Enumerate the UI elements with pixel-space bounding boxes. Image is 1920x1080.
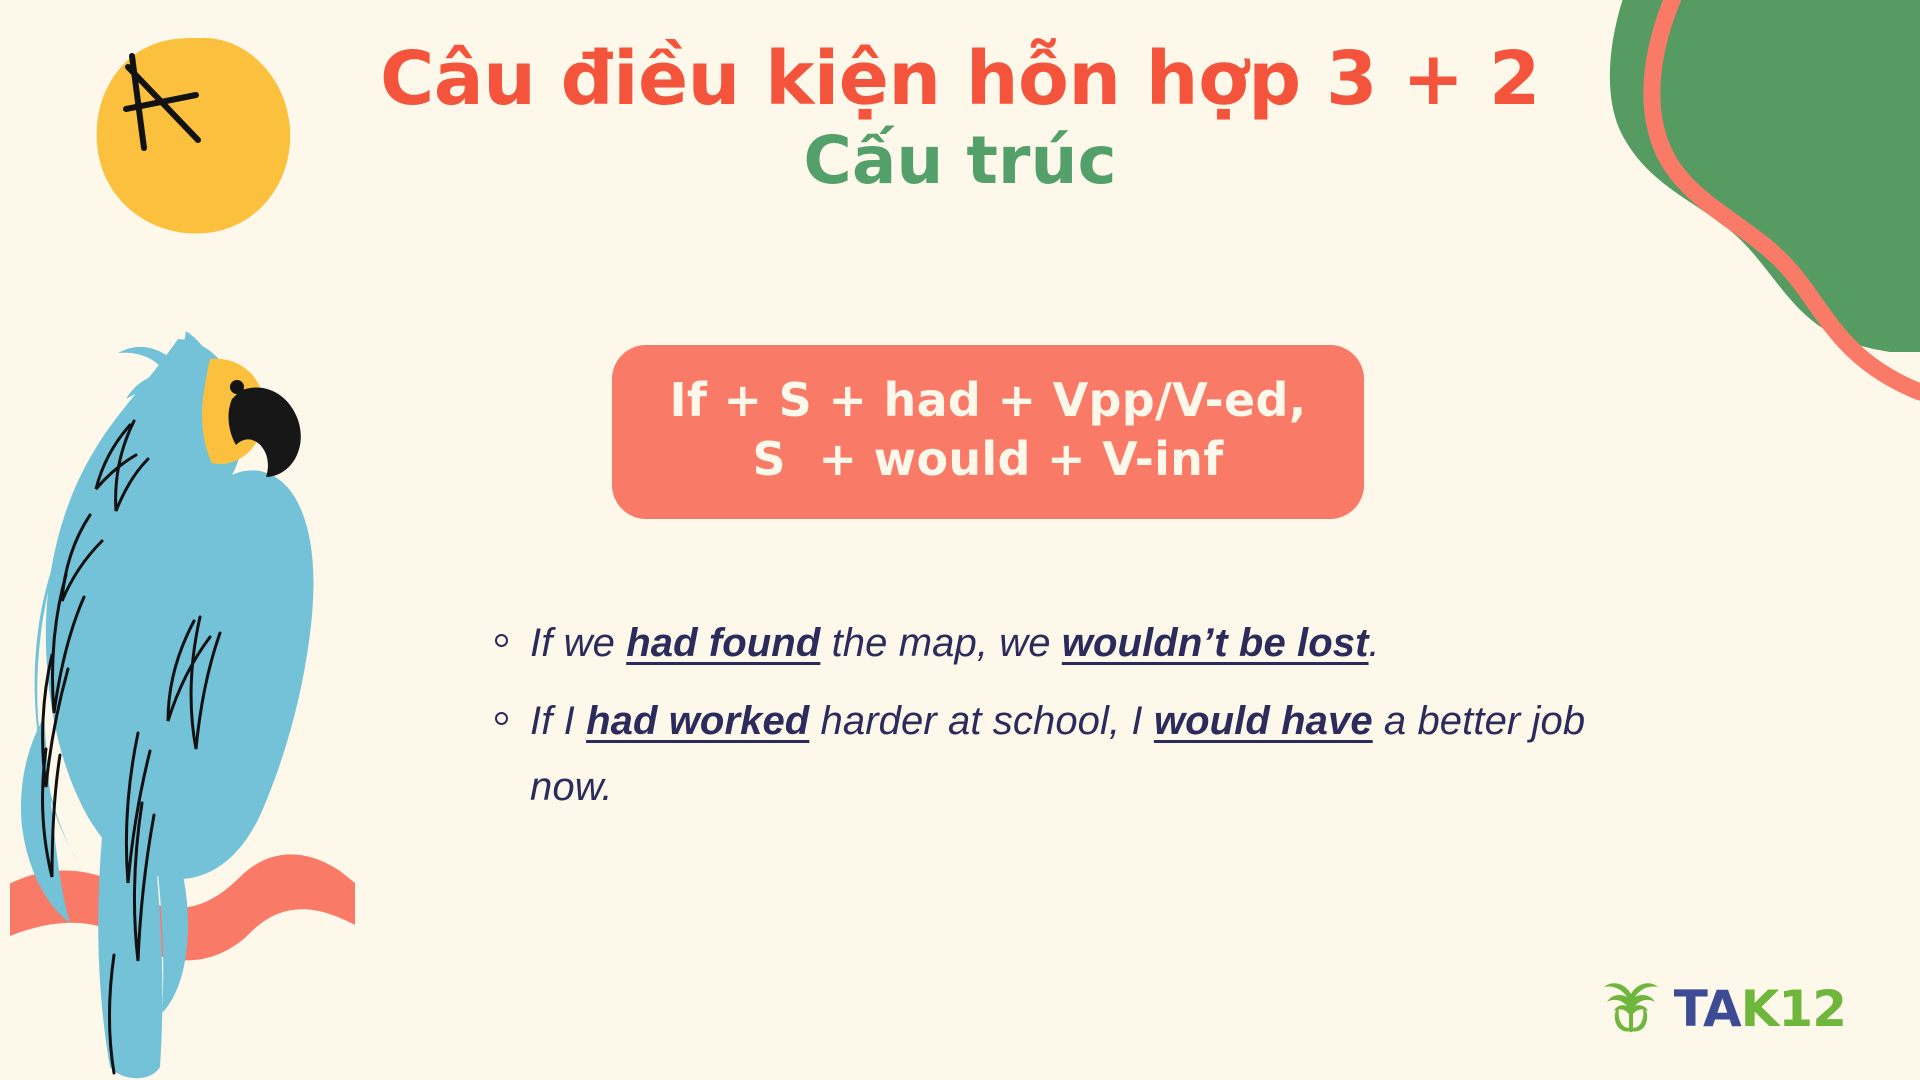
sentence-fragment: harder at school, I: [809, 699, 1154, 743]
page-subtitle: Cấu trúc: [0, 120, 1920, 203]
bullet-circle-icon: [495, 712, 508, 725]
formula-line-2: S + would + V-inf: [648, 430, 1328, 489]
sentence-fragment: If I: [530, 699, 586, 743]
sentence-fragment: .: [1369, 621, 1380, 665]
list-item: If I had worked harder at school, I woul…: [495, 688, 1675, 820]
parrot-icon: [10, 325, 360, 1080]
emphasized-phrase: had found: [626, 621, 820, 665]
list-item: If we had found the map, we wouldn’t be …: [495, 610, 1675, 676]
logo-text-secondary: K12: [1741, 980, 1846, 1038]
examples-list: If we had found the map, we wouldn’t be …: [495, 610, 1675, 832]
blue-macaw-illustration: [10, 325, 360, 1080]
example-sentence: If I had worked harder at school, I woul…: [530, 688, 1675, 820]
title-block: Câu điều kiện hỗn hợp 3 + 2 Cấu trúc: [0, 40, 1920, 202]
beak: [229, 387, 301, 477]
formula-line-1: If + S + had + Vpp/V-ed,: [648, 371, 1328, 430]
example-sentence: If we had found the map, we wouldn’t be …: [530, 610, 1380, 676]
eye: [230, 380, 244, 394]
emphasized-phrase: had worked: [586, 699, 809, 743]
logo-text: TAK12: [1674, 984, 1846, 1034]
sprout-icon: [1600, 980, 1662, 1038]
logo-text-primary: TA: [1674, 980, 1741, 1038]
bullet-circle-icon: [495, 634, 508, 647]
formula-box: If + S + had + Vpp/V-ed, S + would + V-i…: [612, 345, 1364, 519]
emphasized-phrase: would have: [1154, 699, 1373, 743]
tak12-logo: TAK12: [1600, 980, 1846, 1038]
sentence-fragment: the map, we: [820, 621, 1061, 665]
sentence-fragment: If we: [530, 621, 626, 665]
emphasized-phrase: wouldn’t be lost: [1062, 621, 1369, 665]
page-title: Câu điều kiện hỗn hợp 3 + 2: [0, 40, 1920, 120]
branch-shape: [10, 854, 355, 960]
slide-canvas: Câu điều kiện hỗn hợp 3 + 2 Cấu trúc If …: [0, 0, 1920, 1080]
